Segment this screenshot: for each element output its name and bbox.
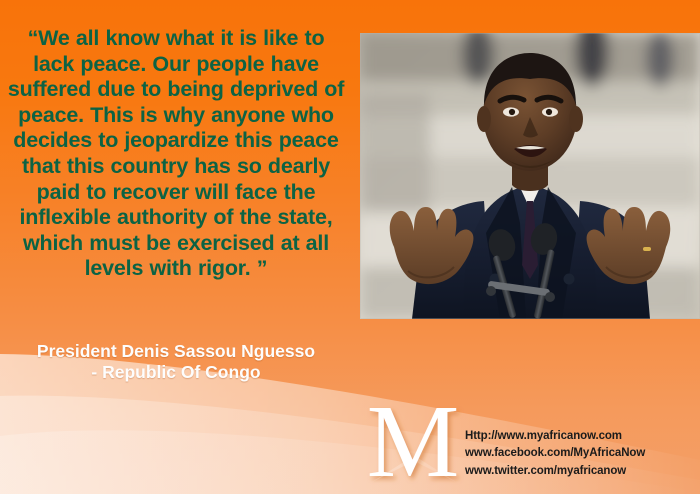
quote-poster: “We all know what it is like to lack pea… bbox=[0, 0, 700, 500]
bottom-strip bbox=[0, 494, 700, 500]
attribution-name: President Denis Sassou Nguesso bbox=[0, 341, 352, 362]
link-twitter[interactable]: www.twitter.com/myafricanow bbox=[465, 463, 645, 480]
logo-letter-glyph: M bbox=[367, 384, 459, 499]
president-portrait-photo bbox=[360, 33, 700, 319]
social-links-list: Http://www.myafricanow.com www.facebook.… bbox=[465, 428, 645, 480]
attribution-country: - Republic Of Congo bbox=[0, 362, 352, 383]
logo-letter-m-icon: M bbox=[366, 396, 461, 484]
portrait-illustration bbox=[360, 33, 700, 319]
attribution-block: President Denis Sassou Nguesso - Republi… bbox=[0, 341, 352, 383]
link-website[interactable]: Http://www.myafricanow.com bbox=[465, 428, 645, 445]
quote-block: “We all know what it is like to lack pea… bbox=[0, 26, 352, 282]
myafricanow-logo: M bbox=[366, 396, 461, 484]
link-facebook[interactable]: www.facebook.com/MyAfricaNow bbox=[465, 445, 645, 462]
quote-text: “We all know what it is like to lack pea… bbox=[0, 26, 352, 282]
